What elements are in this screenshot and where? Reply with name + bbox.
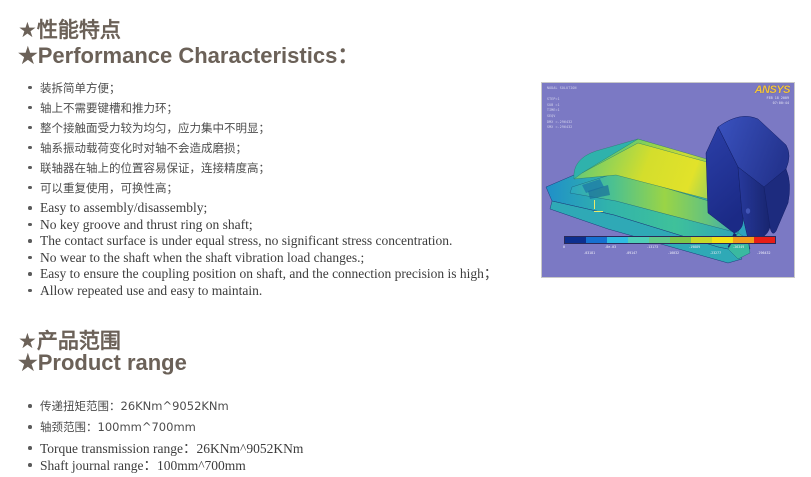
colorbar-tick: .03181	[583, 251, 595, 255]
list-item: Shaft journal range：100mm^700mm	[28, 457, 303, 474]
bullet-dot-icon	[28, 446, 32, 450]
list-item-text: 装拆简单方便；	[40, 81, 121, 95]
list-item: 轴系振动载荷变化时对轴不会造成磨损；	[28, 138, 270, 158]
colorbar-band	[565, 237, 586, 243]
colorbar-band	[586, 237, 607, 243]
bullet-dot-icon	[28, 206, 32, 210]
list-item: No key groove and thrust ring on shaft;	[28, 217, 497, 234]
list-item: Allow repeated use and easy to maintain.	[28, 283, 497, 300]
list-item: 轴颈范围：100mm^700mm	[28, 417, 229, 438]
list-item-text: The contact surface is under equal stres…	[40, 233, 452, 248]
performance-heading-en: ★Performance Characteristics：	[18, 38, 359, 70]
product-range-list-cn: 传递扭矩范围：26KNm^9052KNm 轴颈范围：100mm^700mm	[28, 396, 229, 438]
list-item: Torque transmission range：26KNm^9052KNm	[28, 440, 303, 457]
list-item: 装拆简单方便；	[28, 78, 270, 98]
colorbar-tick: 0	[563, 245, 565, 249]
performance-list-cn: 装拆简单方便； 轴上不需要键槽和推力环； 整个接触面受力较为均匀，应力集中不明显…	[28, 78, 270, 198]
list-item: 传递扭矩范围：26KNm^9052KNm	[28, 396, 229, 417]
list-item-text: 联轴器在轴上的位置容易保证，连接精度高；	[40, 161, 270, 175]
list-item-text: 整个接触面受力较为均匀，应力集中不明显；	[40, 121, 270, 135]
colorbar-tick: .13173	[646, 245, 658, 249]
fea-info-block: NODAL SOLUTION STEP=1 SUB =1 TIME=1 SEQV…	[547, 86, 577, 131]
ansys-logo: ANSYS	[755, 84, 790, 96]
bullet-dot-icon	[28, 106, 32, 110]
fea-timestamp: FEB 18 200907:00:44	[767, 96, 789, 106]
list-item: 轴上不需要键槽和推力环；	[28, 98, 270, 118]
list-item: 联轴器在轴上的位置容易保证，连接精度高；	[28, 158, 270, 178]
colorbar-band	[607, 237, 628, 243]
colorbar-tick: .26349	[732, 245, 744, 249]
colorbar-tick: .09147	[625, 251, 637, 255]
colorbar-tick: .19889	[688, 245, 700, 249]
list-item-text: Allow repeated use and easy to maintain.	[40, 283, 262, 298]
list-item-text: Torque transmission range：26KNm^9052KNm	[40, 441, 303, 456]
colorbar-band	[628, 237, 649, 243]
text-column: ★性能特点 ★Performance Characteristics： 装拆简单…	[0, 0, 540, 477]
poster-page: ★性能特点 ★Performance Characteristics： 装拆简单…	[0, 0, 811, 477]
list-item-text: 轴上不需要键槽和推力环；	[40, 101, 178, 115]
bullet-dot-icon	[28, 272, 32, 276]
bullet-dot-icon	[28, 404, 32, 408]
bullet-dot-icon	[28, 86, 32, 90]
colorbar-band	[754, 237, 775, 243]
list-item-text: 轴颈范围：100mm^700mm	[40, 420, 196, 434]
bullet-dot-icon	[28, 425, 32, 429]
list-item-text: Easy to assembly/disassembly;	[40, 200, 207, 215]
bullet-dot-icon	[28, 239, 32, 243]
list-item-text: 可以重复使用，可换性高；	[40, 181, 178, 195]
colorbar-tick: .8e-03	[604, 245, 616, 249]
colorbar-band	[691, 237, 712, 243]
list-item: Easy to assembly/disassembly;	[28, 200, 497, 217]
axis-triad-icon	[594, 200, 606, 212]
colorbar-band	[670, 237, 691, 243]
fea-date: FEB 18 2009	[767, 96, 789, 100]
bullet-dot-icon	[28, 146, 32, 150]
list-item: The contact surface is under equal stres…	[28, 233, 497, 250]
list-item: 可以重复使用，可换性高；	[28, 178, 270, 198]
bullet-dot-icon	[28, 223, 32, 227]
bullet-dot-icon	[28, 256, 32, 260]
fea-colorbar: 0 .8e-03 .13173 .19889 .26349 .03181 .09…	[564, 236, 774, 257]
list-item: Easy to ensure the coupling position on …	[28, 266, 497, 283]
product-range-list-en: Torque transmission range：26KNm^9052KNm …	[28, 440, 303, 474]
colorbar-band	[712, 237, 733, 243]
list-item-text: 传递扭矩范围：26KNm^9052KNm	[40, 399, 229, 413]
fea-time: 07:00:44	[773, 101, 789, 105]
colorbar-band	[733, 237, 754, 243]
product-range-heading-en: ★Product range	[18, 350, 187, 376]
bullet-dot-icon	[28, 186, 32, 190]
list-item-text: Shaft journal range：100mm^700mm	[40, 458, 246, 473]
list-item-text: No wear to the shaft when the shaft vibr…	[40, 250, 364, 265]
colorbar-bands	[564, 236, 776, 244]
list-item-text: Easy to ensure the coupling position on …	[40, 266, 497, 281]
colorbar-tick: .296432	[757, 251, 771, 255]
list-item: 整个接触面受力较为均匀，应力集中不明显；	[28, 118, 270, 138]
colorbar-tick: .23277	[709, 251, 721, 255]
bullet-dot-icon	[28, 289, 32, 293]
fea-simulation-figure: NODAL SOLUTION STEP=1 SUB =1 TIME=1 SEQV…	[541, 82, 795, 278]
fea-canvas: NODAL SOLUTION STEP=1 SUB =1 TIME=1 SEQV…	[542, 83, 794, 277]
bullet-dot-icon	[28, 126, 32, 130]
list-item-text: 轴系振动载荷变化时对轴不会造成磨损；	[40, 141, 247, 155]
colorbar-tick: .16032	[667, 251, 679, 255]
list-item: No wear to the shaft when the shaft vibr…	[28, 250, 497, 267]
bullet-dot-icon	[28, 166, 32, 170]
bullet-dot-icon	[28, 463, 32, 467]
colorbar-ticks: 0 .8e-03 .13173 .19889 .26349 .03181 .09…	[564, 245, 774, 257]
colorbar-band	[649, 237, 670, 243]
performance-list-en: Easy to assembly/disassembly; No key gro…	[28, 200, 497, 299]
list-item-text: No key groove and thrust ring on shaft;	[40, 217, 253, 232]
